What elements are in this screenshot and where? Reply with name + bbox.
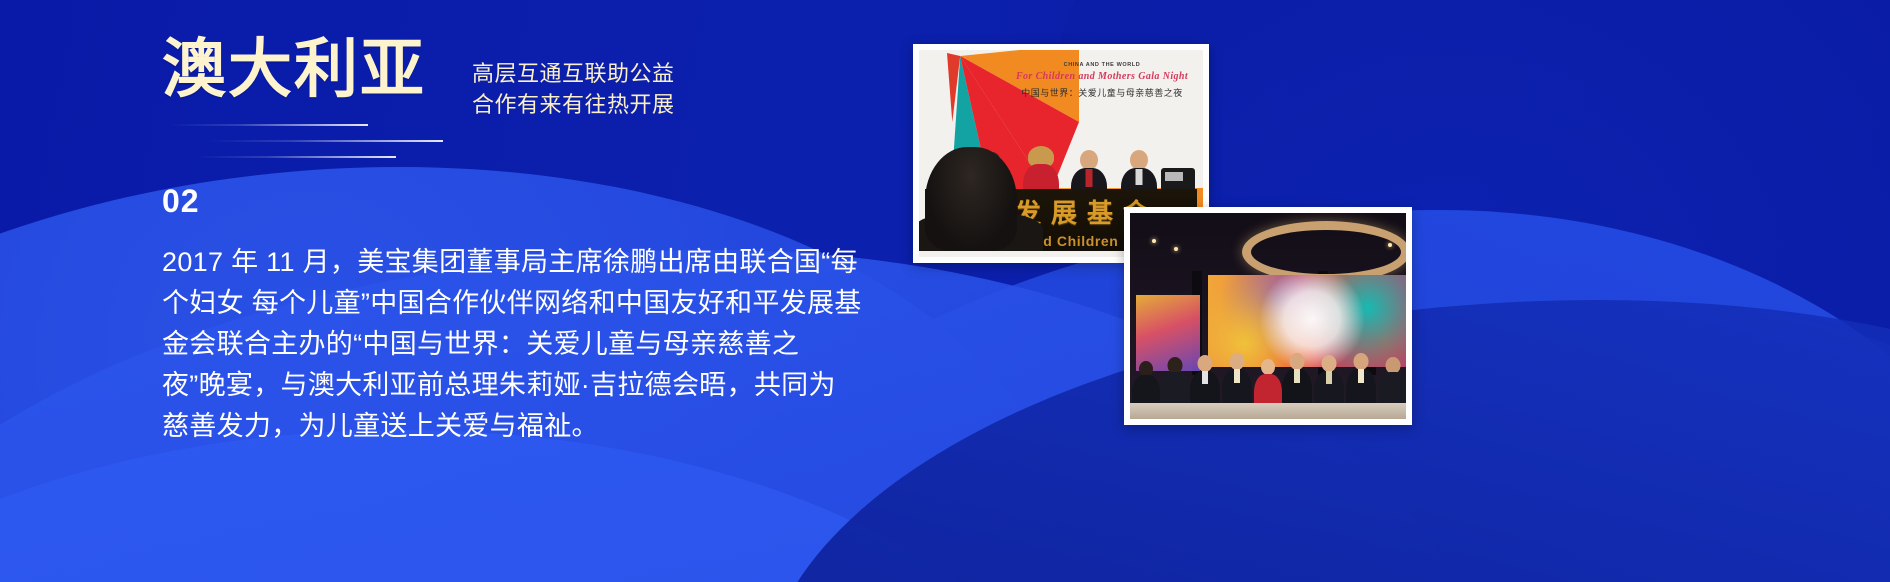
- photo-1-backdrop-title-en: For Children and Mothers Gala Night: [1007, 71, 1197, 82]
- photo-1-backdrop-title-cn: 中国与世界：关爱儿童与母亲慈善之夜: [1007, 86, 1197, 99]
- photo-1-backdrop-kicker: CHINA AND THE WORLD: [1007, 62, 1197, 68]
- page-subtitle: 高层互通互联助公益 合作有来有往热开展: [472, 58, 675, 120]
- photo-2-inner: [1130, 213, 1406, 419]
- photo-2-ceiling-light-2: [1174, 247, 1178, 251]
- page-title: 澳大利亚: [162, 37, 426, 101]
- photo-2-ceiling-light-1: [1152, 239, 1156, 243]
- photo-2-ceiling-light-3: [1388, 243, 1392, 247]
- slide-root: 澳大利亚 高层互通互联助公益 合作有来有往热开展 02 2017 年 11 月，…: [0, 0, 1890, 582]
- body-paragraph: 2017 年 11 月，美宝集团董事局主席徐鹏出席由联合国“每个妇女 每个儿童”…: [162, 242, 862, 447]
- left-content-column: 澳大利亚 高层互通互联助公益 合作有来有往热开展 02 2017 年 11 月，…: [0, 0, 920, 582]
- photo-2-banquet-table: [1130, 403, 1406, 419]
- decorative-lines: [168, 124, 528, 170]
- photo-gala-group-photo: [1124, 207, 1412, 425]
- decorative-line-1: [168, 124, 368, 126]
- photo-2-chandelier-ring: [1242, 221, 1406, 283]
- decorative-line-2: [208, 140, 443, 142]
- photo-1-backdrop-text: CHINA AND THE WORLD For Children and Mot…: [1007, 62, 1197, 99]
- photo-2-people-group: [1130, 345, 1406, 419]
- decorative-line-3: [196, 156, 396, 158]
- photo-1-foreground-head: [925, 147, 1017, 251]
- section-number: 02: [162, 183, 200, 220]
